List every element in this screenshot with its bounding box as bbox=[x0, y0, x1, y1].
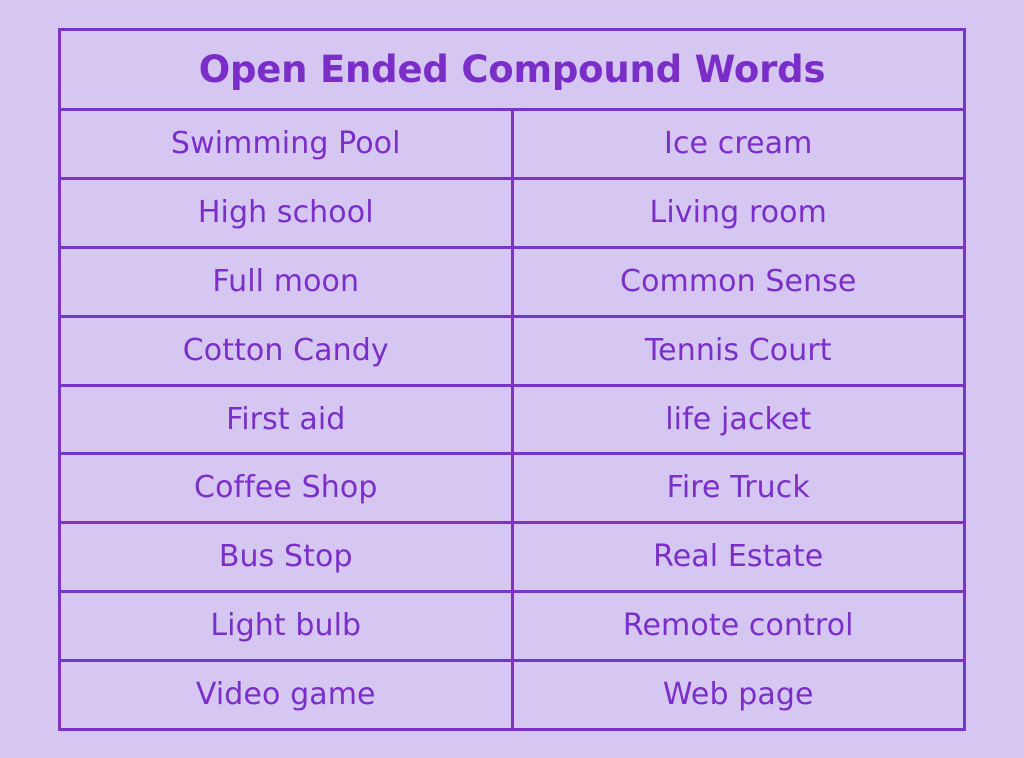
table-row: Full moon Common Sense bbox=[61, 249, 963, 318]
table-cell-left: Light bulb bbox=[61, 593, 514, 659]
compound-word: Fire Truck bbox=[667, 473, 810, 503]
table-row: Swimming Pool Ice cream bbox=[61, 111, 963, 180]
compound-word: Real Estate bbox=[653, 542, 823, 572]
table-cell-right: Tennis Court bbox=[514, 318, 964, 384]
compound-word: Bus Stop bbox=[219, 542, 353, 572]
table-row: Coffee Shop Fire Truck bbox=[61, 455, 963, 524]
compound-word: High school bbox=[198, 198, 374, 228]
table-cell-left: Swimming Pool bbox=[61, 111, 514, 177]
table-body: Swimming Pool Ice cream High school Livi… bbox=[61, 111, 963, 728]
table-cell-right: Fire Truck bbox=[514, 455, 964, 521]
table-row: Bus Stop Real Estate bbox=[61, 524, 963, 593]
compound-word: Swimming Pool bbox=[171, 129, 401, 159]
table-cell-right: Common Sense bbox=[514, 249, 964, 315]
table-cell-left: High school bbox=[61, 180, 514, 246]
table-row: Cotton Candy Tennis Court bbox=[61, 318, 963, 387]
table-cell-right: Living room bbox=[514, 180, 964, 246]
table-cell-right: Web page bbox=[514, 662, 964, 728]
compound-word: Coffee Shop bbox=[194, 473, 377, 503]
table-cell-left: Cotton Candy bbox=[61, 318, 514, 384]
table-cell-left: Bus Stop bbox=[61, 524, 514, 590]
table-cell-left: Full moon bbox=[61, 249, 514, 315]
table-cell-right: Remote control bbox=[514, 593, 964, 659]
compound-word: Remote control bbox=[623, 611, 854, 641]
compound-word: Video game bbox=[196, 680, 376, 710]
table-row: High school Living room bbox=[61, 180, 963, 249]
compound-word: Web page bbox=[663, 680, 814, 710]
compound-word: Ice cream bbox=[664, 129, 812, 159]
table-cell-left: Coffee Shop bbox=[61, 455, 514, 521]
table-cell-left: First aid bbox=[61, 387, 514, 453]
table-row: Video game Web page bbox=[61, 662, 963, 728]
compound-words-table: Open Ended Compound Words Swimming Pool … bbox=[58, 28, 966, 731]
table-cell-right: life jacket bbox=[514, 387, 964, 453]
page-title: Open Ended Compound Words bbox=[199, 51, 826, 88]
page-root: Open Ended Compound Words Swimming Pool … bbox=[0, 0, 1024, 758]
table-cell-right: Real Estate bbox=[514, 524, 964, 590]
compound-word: Light bulb bbox=[210, 611, 361, 641]
table-row: First aid life jacket bbox=[61, 387, 963, 456]
compound-word: Common Sense bbox=[620, 267, 856, 297]
compound-word: life jacket bbox=[665, 405, 811, 435]
compound-word: Living room bbox=[650, 198, 827, 228]
compound-word: Tennis Court bbox=[645, 336, 832, 366]
compound-word: Cotton Candy bbox=[183, 336, 389, 366]
table-title-row: Open Ended Compound Words bbox=[61, 31, 963, 111]
table-cell-left: Video game bbox=[61, 662, 514, 728]
table-cell-right: Ice cream bbox=[514, 111, 964, 177]
table-row: Light bulb Remote control bbox=[61, 593, 963, 662]
compound-word: Full moon bbox=[212, 267, 359, 297]
compound-word: First aid bbox=[226, 405, 345, 435]
